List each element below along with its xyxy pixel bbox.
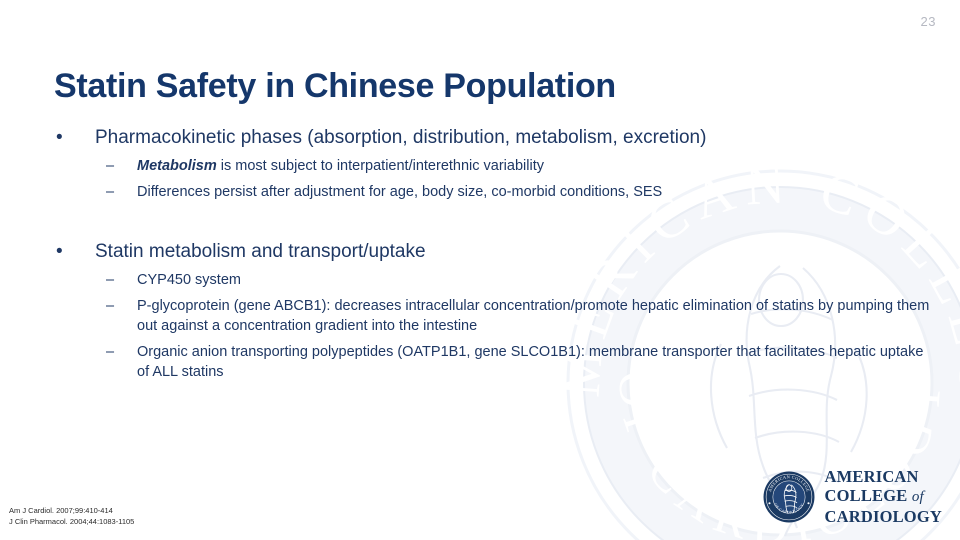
bullet-level2-text: is most subject to interpatient/intereth…	[217, 158, 544, 174]
bullet-level2: – Organic anion transporting polypeptide…	[50, 342, 930, 382]
logo-of-word: of	[912, 489, 924, 505]
bullet-level1: • Pharmacokinetic phases (absorption, di…	[50, 126, 930, 150]
bullet-dot-icon: •	[56, 126, 63, 150]
emphasis-metabolism: Metabolism	[137, 158, 217, 174]
citation-block: Am J Cardiol. 2007;99:410-414 J Clin Pha…	[9, 506, 134, 528]
slide-canvas: AMERICAN COLLEGE OF CARDIOLOGY 23	[0, 0, 960, 540]
bullet-level1-text: Statin metabolism and transport/uptake	[95, 241, 426, 262]
logo-college-word: COLLEGE	[824, 486, 911, 505]
logo-line-cardiology: CARDIOLOGY	[824, 507, 942, 526]
logo-line-college: COLLEGE of	[824, 486, 942, 506]
acc-seal-icon: AMERICAN COLLEGE OF CARDIOLOGY	[763, 471, 815, 523]
citation-line-2: J Clin Pharmacol. 2004;44:1083-1105	[9, 517, 134, 528]
acc-logo-text: AMERICAN COLLEGE of CARDIOLOGY	[824, 467, 942, 526]
bullet-level2-text: CYP450 system	[137, 272, 241, 288]
bullet-level2: – P-glycoprotein (gene ABCB1): decreases…	[50, 296, 930, 336]
bullet-level1: • Statin metabolism and transport/uptake	[50, 240, 930, 264]
slide-body: • Pharmacokinetic phases (absorption, di…	[50, 126, 930, 382]
acc-logo: AMERICAN COLLEGE OF CARDIOLOGY	[763, 467, 942, 526]
bullet-level2: – CYP450 system	[50, 270, 930, 290]
bullet-level2: – Differences persist after adjustment f…	[50, 182, 930, 202]
bullet-group-2: • Statin metabolism and transport/uptake…	[50, 240, 930, 382]
citation-line-1: Am J Cardiol. 2007;99:410-414	[9, 506, 134, 517]
dash-icon: –	[106, 296, 114, 316]
logo-line-american: AMERICAN	[824, 467, 942, 486]
slide-number: 23	[921, 14, 936, 29]
bullet-level2: – Metabolism is most subject to interpat…	[50, 156, 930, 176]
bullet-level2-text: Organic anion transporting polypeptides …	[137, 344, 923, 380]
dash-icon: –	[106, 156, 114, 176]
bullet-group-1: • Pharmacokinetic phases (absorption, di…	[50, 126, 930, 202]
bullet-dot-icon: •	[56, 240, 63, 264]
dash-icon: –	[106, 270, 114, 290]
dash-icon: –	[106, 342, 114, 362]
dash-icon: –	[106, 182, 114, 202]
bullet-level1-text: Pharmacokinetic phases (absorption, dist…	[95, 127, 706, 148]
page-title: Statin Safety in Chinese Population	[54, 67, 616, 106]
bullet-level2-text: P-glycoprotein (gene ABCB1): decreases i…	[137, 298, 929, 334]
bullet-level2-text: Differences persist after adjustment for…	[137, 184, 662, 200]
